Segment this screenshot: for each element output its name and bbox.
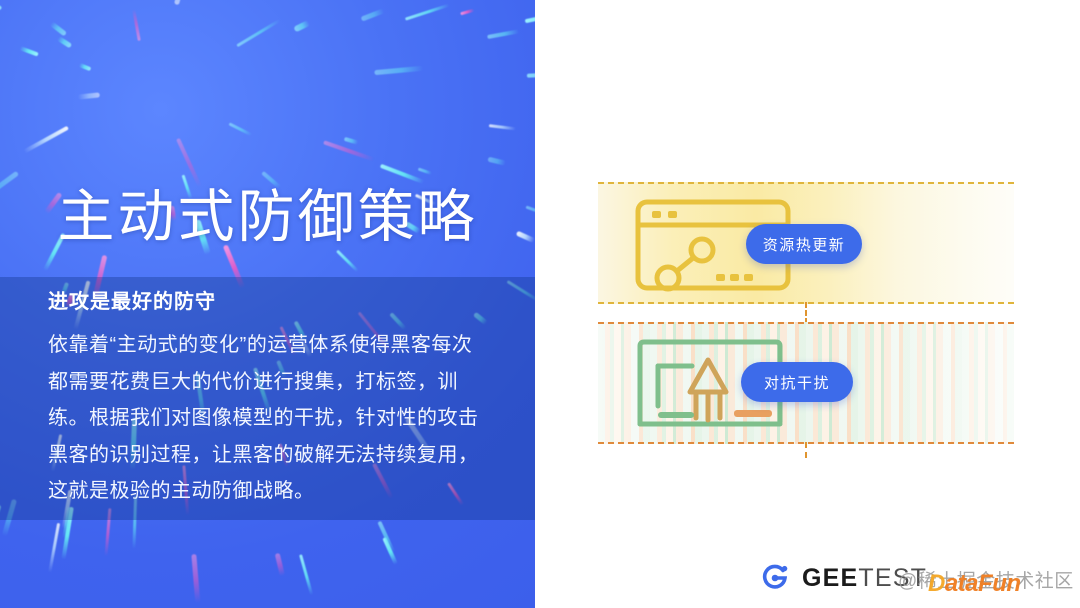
stage-dashed-top-border (598, 322, 1014, 324)
firework-spark (487, 29, 520, 39)
firework-spark (0, 0, 2, 11)
firework-spark (344, 137, 358, 145)
firework-spark (236, 19, 280, 47)
stage-dashed-top-border (598, 182, 1014, 184)
geetest-g-mark-icon (758, 561, 792, 595)
firework-spark (132, 9, 141, 41)
copy-block: 进攻是最好的防守 依靠着“主动式的变化”的运营体系使得黑客每次都需要花费巨大的代… (48, 287, 488, 510)
diagram-stage-resource-hot-update: 资源热更新 (598, 182, 1014, 304)
firework-spark (460, 8, 474, 14)
firework-spark (78, 63, 91, 71)
firework-spark (361, 8, 385, 22)
firework-spark (294, 20, 311, 32)
firework-spark (489, 124, 516, 130)
slide-canvas: 主动式防御策略 进攻是最好的防守 依靠着“主动式的变化”的运营体系使得黑客每次都… (0, 0, 1080, 608)
watermark-datafun-logo: DataFun (928, 570, 1021, 598)
firework-spark (229, 123, 252, 137)
firework-spark (23, 126, 68, 153)
firework-spark (323, 140, 374, 161)
copy-heading: 进攻是最好的防守 (48, 287, 488, 317)
firework-spark (374, 65, 424, 75)
defense-flow-diagram: 资源热更新 (598, 168, 1014, 458)
firework-spark (49, 523, 61, 572)
brand-gee: GEE (802, 564, 858, 592)
firework-spark (19, 46, 38, 56)
left-title-panel: 主动式防御策略 进攻是最好的防守 依靠着“主动式的变化”的运营体系使得黑客每次都… (0, 0, 535, 608)
firework-spark (336, 249, 359, 272)
stage-connector-line-bottom (805, 442, 807, 458)
firework-spark (275, 553, 286, 577)
firework-spark (299, 555, 313, 596)
watermark: @稀土掘金技术社区 DataFun (898, 560, 1076, 598)
diagram-stage-anti-interference: 对抗干扰 (598, 322, 1014, 444)
stage-connector-line (805, 302, 807, 324)
firework-spark (380, 164, 424, 184)
firework-spark (524, 8, 535, 23)
firework-spark (488, 157, 507, 166)
firework-spark (527, 72, 535, 78)
page-title: 主动式防御策略 (0, 182, 535, 252)
firework-spark (191, 554, 200, 603)
firework-spark (57, 36, 72, 48)
firework-spark (417, 168, 432, 176)
stage-pill-resource-hot-update[interactable]: 资源热更新 (746, 224, 862, 264)
firework-spark (174, 0, 185, 5)
stage-pill-anti-interference[interactable]: 对抗干扰 (741, 362, 853, 402)
copy-paragraph: 依靠着“主动式的变化”的运营体系使得黑客每次都需要花费巨大的代价进行搜集，打标签… (48, 327, 488, 510)
firework-spark (78, 92, 100, 100)
firework-spark (50, 21, 67, 36)
firework-spark (176, 138, 202, 188)
firework-spark (405, 4, 449, 21)
